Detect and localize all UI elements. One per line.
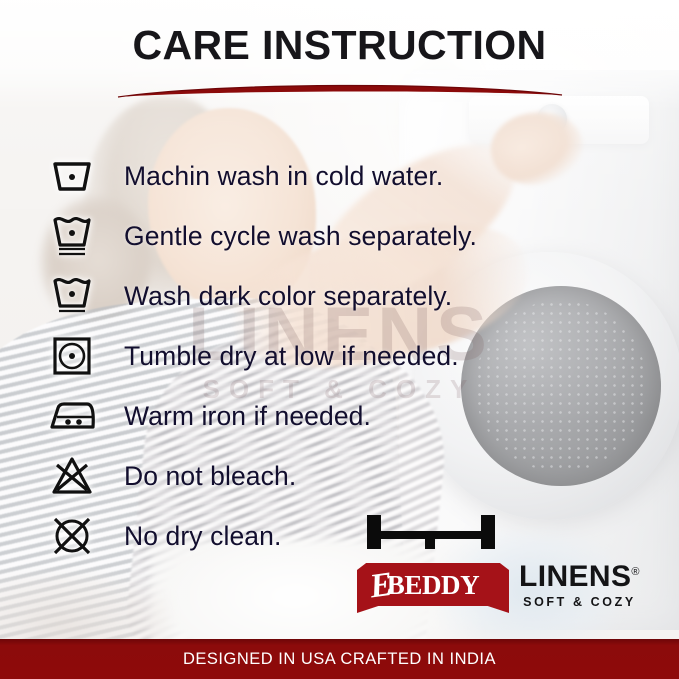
brand-banner-text: BEDDY bbox=[387, 570, 480, 601]
instruction-row: Wash dark color separately. bbox=[44, 266, 644, 326]
footer-text: DESIGNED IN USA CRAFTED IN INDIA bbox=[183, 650, 496, 669]
instruction-row: Tumble dry at low if needed. bbox=[44, 326, 644, 386]
linens-block: LINENS® SOFT & COZY bbox=[519, 560, 640, 613]
page-title: CARE INSTRUCTION bbox=[0, 22, 679, 69]
beddy-banner: E BEDDY bbox=[357, 563, 509, 613]
instruction-text: Warm iron if needed. bbox=[124, 401, 371, 432]
title-underline bbox=[0, 83, 679, 105]
instruction-text: Tumble dry at low if needed. bbox=[124, 341, 459, 372]
instruction-row: Warm iron if needed. bbox=[44, 386, 644, 446]
footer-banner: DESIGNED IN USA CRAFTED IN INDIA bbox=[0, 639, 679, 679]
instruction-text: Do not bleach. bbox=[124, 461, 296, 492]
gentle-cycle-wash-icon bbox=[44, 214, 100, 258]
title-block: CARE INSTRUCTION bbox=[0, 22, 679, 105]
machine-wash-cold-icon bbox=[44, 158, 100, 194]
no-dry-clean-icon bbox=[44, 515, 100, 557]
brand-tagline: SOFT & COZY bbox=[519, 595, 640, 609]
brand-name: LINENS® bbox=[519, 560, 640, 594]
brand-name-text: LINENS bbox=[519, 560, 631, 593]
registered-mark: ® bbox=[631, 566, 640, 578]
instruction-text: Gentle cycle wash separately. bbox=[124, 221, 477, 252]
care-instruction-card: LINENS SOFT & COZY CARE INSTRUCTION Mach… bbox=[0, 0, 679, 679]
tumble-dry-low-icon bbox=[44, 336, 100, 376]
instruction-text: Wash dark color separately. bbox=[124, 281, 452, 312]
instruction-row: Do not bleach. bbox=[44, 446, 644, 506]
instruction-text: No dry clean. bbox=[124, 521, 281, 552]
instruction-row: Gentle cycle wash separately. bbox=[44, 206, 644, 266]
brand-script-letter: E bbox=[367, 566, 395, 607]
instruction-text: Machin wash in cold water. bbox=[124, 161, 443, 192]
logo-wordmark: E BEDDY LINENS® SOFT & COZY bbox=[357, 560, 640, 613]
brand-logo: E BEDDY LINENS® SOFT & COZY bbox=[357, 511, 657, 623]
bed-icon bbox=[365, 511, 497, 558]
instruction-row: Machin wash in cold water. bbox=[44, 146, 644, 206]
wash-separately-icon bbox=[44, 275, 100, 317]
warm-iron-icon bbox=[44, 399, 100, 433]
do-not-bleach-icon bbox=[44, 456, 100, 496]
red-swoosh-icon bbox=[116, 83, 564, 99]
instruction-list: Machin wash in cold water. Gentle cycle … bbox=[44, 146, 644, 566]
banner-underbar bbox=[371, 610, 495, 623]
